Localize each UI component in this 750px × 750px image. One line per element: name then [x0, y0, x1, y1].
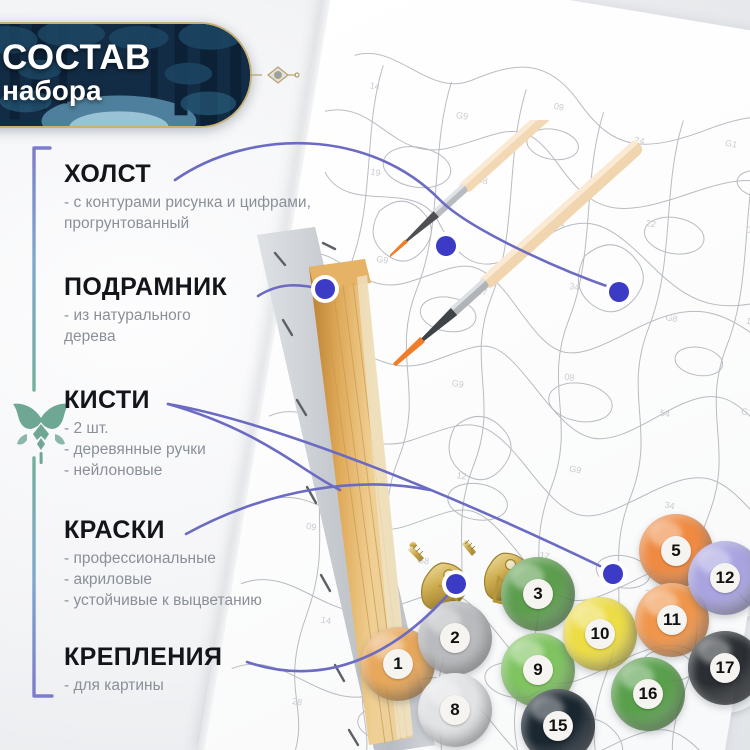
paint-pot-16: 16 — [611, 657, 685, 731]
paint-pot-number: 17 — [710, 653, 740, 683]
list-item: дерева — [64, 326, 227, 347]
paint-pot-number: 8 — [440, 695, 470, 725]
section-kraski: КРАСКИ - профессиональные - акриловые - … — [64, 518, 262, 611]
paint-pot-number: 3 — [523, 579, 553, 609]
paint-pot-10: 10 — [563, 597, 637, 671]
marker-dot-mount — [442, 570, 470, 598]
section-items-kraski: - профессиональные - акриловые - устойчи… — [64, 548, 262, 611]
marker-dot-brush — [605, 278, 633, 306]
paint-pot-number: 1 — [383, 649, 413, 679]
list-item: - для картины — [64, 675, 222, 696]
section-title-holst: ХОЛСТ — [64, 162, 311, 187]
paint-pot-number: 11 — [657, 605, 687, 635]
section-title-kraski: КРАСКИ — [64, 518, 262, 543]
section-items-holst: - с контурами рисунка и цифрами, прогрун… — [64, 192, 311, 234]
paint-pot-2: 2 — [418, 601, 492, 675]
section-items-krepleniya: - для картины — [64, 675, 222, 696]
marker-dot-frame — [311, 275, 339, 303]
marker-dot-paints — [599, 560, 627, 588]
banner-jewel-ornament — [248, 62, 300, 88]
section-title-kisti: КИСТИ — [64, 388, 206, 413]
svg-text:09: 09 — [553, 101, 565, 113]
banner-title: СОСТАВ — [2, 40, 232, 75]
list-item: - профессиональные — [64, 548, 262, 569]
paint-pot-number: 5 — [661, 536, 691, 566]
paint-pot-8: 8 — [418, 673, 492, 747]
svg-text:14: 14 — [369, 80, 381, 92]
paint-pot-number: 10 — [585, 619, 615, 649]
svg-text:19: 19 — [370, 167, 382, 179]
section-title-krepleniya: КРЕПЛЕНИЯ — [64, 645, 222, 670]
banner-text: СОСТАВ набора — [2, 40, 232, 105]
svg-text:G9: G9 — [569, 464, 583, 476]
section-krepleniya: КРЕПЛЕНИЯ - для картины — [64, 645, 222, 696]
paint-brushes — [390, 120, 750, 420]
marker-dot-canvas — [432, 232, 460, 260]
paint-pot-number: 16 — [633, 679, 663, 709]
list-item: - 2 шт. — [64, 418, 206, 439]
section-items-kisti: - 2 шт. - деревянные ручки - нейлоновые — [64, 418, 206, 481]
paint-pot-number: 12 — [710, 563, 740, 593]
section-kisti: КИСТИ - 2 шт. - деревянные ручки - нейло… — [64, 388, 206, 481]
header-banner: СОСТАВ набора — [0, 22, 252, 128]
paint-pot-number: 2 — [440, 623, 470, 653]
section-podramnik: ПОДРАМНИК - из натурального дерева — [64, 275, 227, 347]
paint-pot-number: 9 — [523, 655, 553, 685]
list-item: - устойчивые к выцветанию — [64, 590, 262, 611]
paint-pot-number: 15 — [543, 711, 573, 741]
list-item: - акриловые — [64, 569, 262, 590]
section-title-podramnik: ПОДРАМНИК — [64, 275, 227, 300]
paint-pot-3: 3 — [501, 557, 575, 631]
list-item: - из натурального — [64, 305, 227, 326]
banner-subtitle: набора — [2, 76, 232, 105]
section-holst: ХОЛСТ - с контурами рисунка и цифрами, п… — [64, 162, 311, 234]
list-item: - нейлоновые — [64, 460, 206, 481]
list-item: прогрунтованный — [64, 213, 311, 234]
svg-text:34: 34 — [664, 500, 676, 512]
list-item: - с контурами рисунка и цифрами, — [64, 192, 311, 213]
section-items-podramnik: - из натурального дерева — [64, 305, 227, 347]
list-item: - деревянные ручки — [64, 439, 206, 460]
